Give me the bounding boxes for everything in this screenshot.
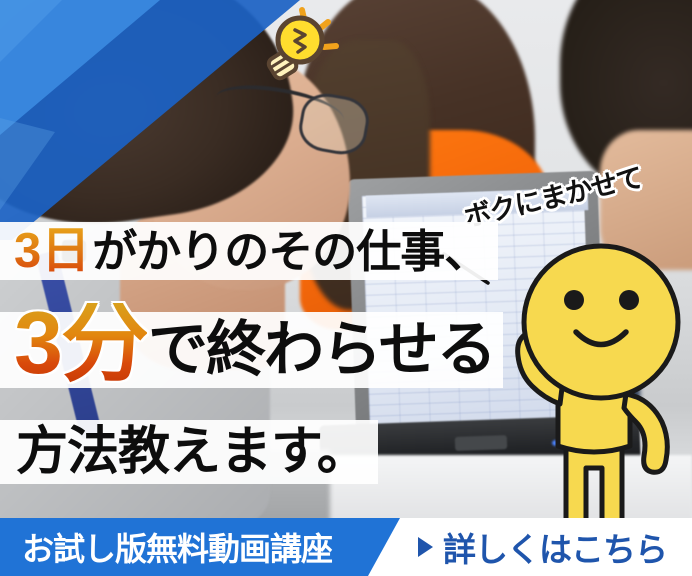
cta-bar[interactable]: お試し版無料動画講座 詳しくはこちら [0, 518, 692, 576]
mascot-eye-left [564, 290, 584, 310]
headline-line2-rest: で終わらせる [148, 320, 495, 380]
ad-banner[interactable]: ボクにまかせて 3日 がかりのその仕事、 3分 で終わらせる 方法教えます。 お… [0, 0, 692, 576]
headline-line1-rest: がかりのその仕事、 [92, 229, 488, 274]
headline-band-3: 方法教えます。 [0, 420, 378, 484]
headline-line1-highlight: 3日 [14, 227, 90, 276]
headline-line2-highlight: 3分 [14, 303, 147, 384]
yellow-character-icon [498, 236, 692, 536]
cta-details-link-label: 詳しくはこちら [443, 523, 667, 571]
headline-band-1: 3日 がかりのその仕事、 [0, 222, 498, 280]
play-triangle-icon [418, 537, 433, 557]
cta-badge-label: お試し版無料動画講座 [22, 518, 332, 576]
headline-band-2: 3分 で終わらせる [0, 312, 503, 388]
headline-line3-text: 方法教えます。 [16, 426, 368, 478]
lightbulb-icon [258, 6, 348, 84]
mascot-character [498, 236, 692, 536]
lightbulb-glyph [258, 6, 348, 84]
mascot-eye-right [619, 290, 639, 310]
cta-details-link[interactable]: 詳しくはこちら [418, 518, 667, 576]
